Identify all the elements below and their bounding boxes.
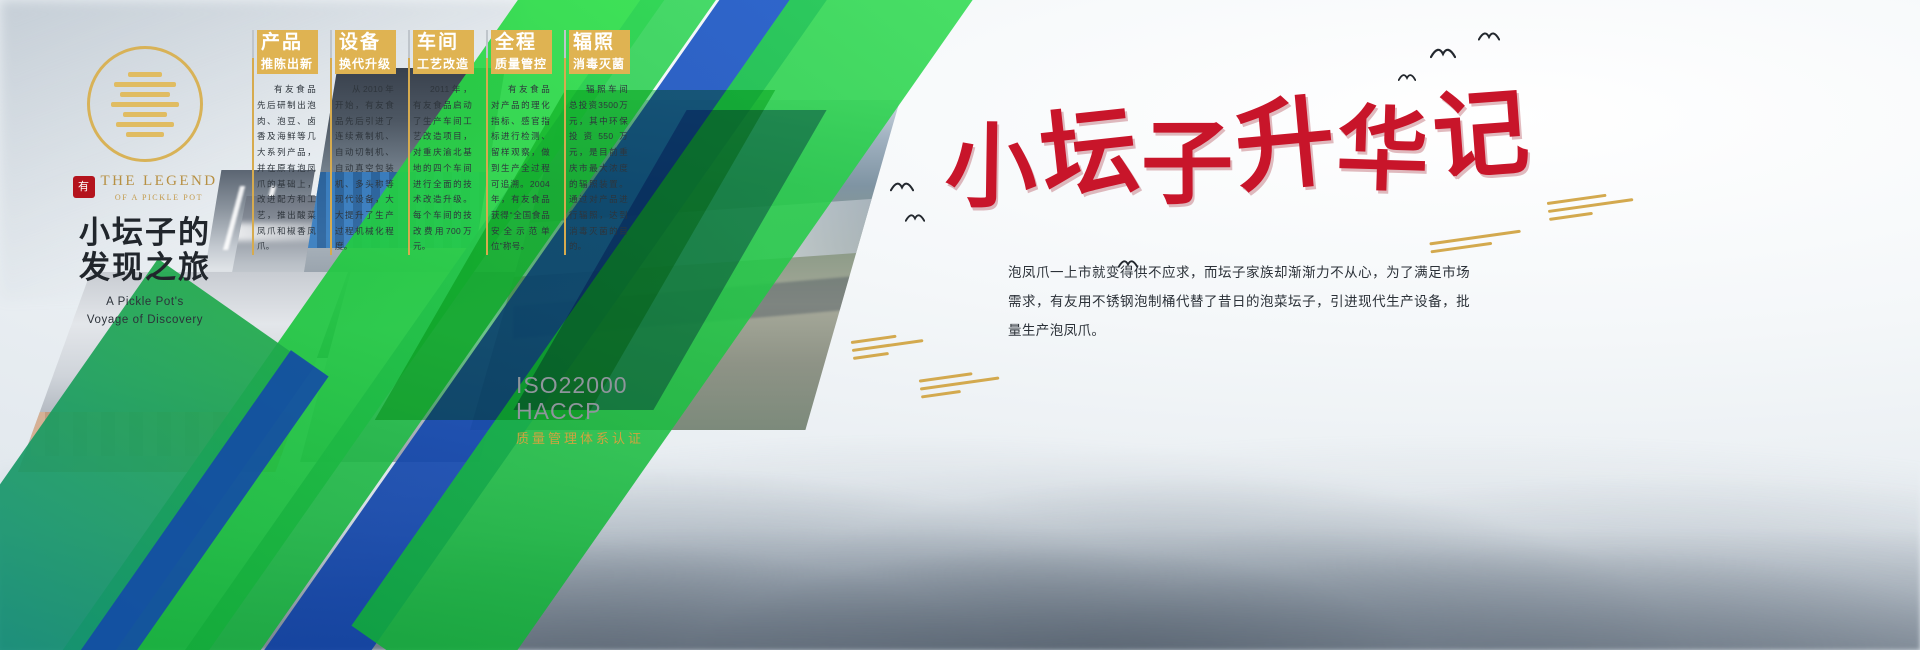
pickle-pot-seal-icon bbox=[87, 46, 203, 162]
card-subheading: 换代升级 bbox=[335, 56, 396, 74]
cloud-ornament-icon bbox=[1429, 230, 1522, 259]
cloud-ornament-icon bbox=[1547, 190, 1636, 226]
legend-sub-text: OF A PICKLE POT bbox=[101, 193, 218, 202]
card-heading: 产品 bbox=[257, 30, 318, 56]
card-subheading: 消毒灭菌 bbox=[569, 56, 630, 74]
card-body: 有友食品先后研制出泡肉、泡豆、卤香及海鲜等几大系列产品，并在原有泡凤爪的基础上，… bbox=[257, 82, 318, 255]
brand-en-title-line1: A Pickle Pot's bbox=[45, 294, 245, 311]
brand-cn-title-line2: 发现之旅 bbox=[45, 251, 245, 286]
brand-logo-block: 有 THE LEGEND OF A PICKLE POT 小坛子的 发现之旅 A… bbox=[45, 46, 245, 329]
banner-stage: 有 THE LEGEND OF A PICKLE POT 小坛子的 发现之旅 A… bbox=[0, 0, 1920, 650]
hero-title-char: 记 bbox=[1427, 54, 1539, 199]
quality-system-label: 质量管理体系认证 bbox=[516, 428, 644, 447]
hero-title-char: 子 bbox=[1141, 89, 1239, 222]
milestone-card: 车间 工艺改造 2011年，有友食品启动了生产车间工艺改造项目，对重庆渝北基地的… bbox=[408, 30, 474, 255]
brand-cn-title: 小坛子的 发现之旅 bbox=[45, 216, 245, 285]
card-body: 从2010年开始，有友食品先后引进了连续煮制机、自动切制机、自动真空包装机、多头… bbox=[335, 82, 396, 255]
card-heading: 全程 bbox=[491, 30, 552, 56]
youyou-seal-icon: 有 bbox=[73, 176, 95, 198]
card-body: 2011年，有友食品启动了生产车间工艺改造项目，对重庆渝北基地的四个车间进行全面… bbox=[413, 82, 474, 255]
legend-lockup: 有 THE LEGEND OF A PICKLE POT bbox=[45, 172, 245, 202]
iso-standard-label: ISO22000 bbox=[516, 372, 644, 398]
card-subheading: 推陈出新 bbox=[257, 56, 318, 74]
hero-paragraph: 泡凤爪一上市就变得供不应求，而坛子家族却渐渐力不从心，为了满足市场需求，有友用不… bbox=[1008, 258, 1470, 345]
card-subheading: 质量管控 bbox=[491, 56, 552, 74]
card-body: 辐照车间总投资3500万元，其中环保投资550万元，是目前重庆市最大浓度的辐照装… bbox=[569, 82, 630, 255]
card-subheading: 工艺改造 bbox=[413, 56, 474, 74]
cloud-ornament-icon bbox=[919, 369, 1002, 404]
card-heading: 车间 bbox=[413, 30, 474, 56]
hero-title-char: 华 bbox=[1335, 74, 1437, 210]
brand-en-title-line2: Voyage of Discovery bbox=[45, 312, 245, 329]
certification-block: ISO22000 HACCP 质量管理体系认证 bbox=[516, 372, 644, 447]
milestone-card: 产品 推陈出新 有友食品先后研制出泡肉、泡豆、卤香及海鲜等几大系列产品，并在原有… bbox=[252, 30, 318, 255]
hero-title-char: 升 bbox=[1228, 60, 1346, 213]
milestone-card: 设备 换代升级 从2010年开始，有友食品先后引进了连续煮制机、自动切制机、自动… bbox=[330, 30, 396, 255]
legend-main-text: THE LEGEND bbox=[101, 173, 218, 189]
card-heading: 辐照 bbox=[569, 30, 630, 56]
haccp-label: HACCP bbox=[516, 398, 644, 424]
bird-icon bbox=[905, 212, 925, 225]
hero-title-char: 坛 bbox=[1033, 71, 1150, 221]
milestone-card: 辐照 消毒灭菌 辐照车间总投资3500万元，其中环保投资550万元，是目前重庆市… bbox=[564, 30, 630, 255]
bird-icon bbox=[1478, 30, 1500, 44]
hero-title-char: 小 bbox=[944, 92, 1044, 226]
hero-title-calligraphy: 小坛子升华记 bbox=[943, 67, 1508, 218]
brand-cn-title-line1: 小坛子的 bbox=[45, 216, 245, 251]
card-heading: 设备 bbox=[335, 30, 396, 56]
brand-en-title: A Pickle Pot's Voyage of Discovery bbox=[45, 294, 245, 329]
milestone-card: 全程 质量管控 有友食品对产品的理化指标、感官指标进行检测、留样观察，做到生产全… bbox=[486, 30, 552, 255]
card-body: 有友食品对产品的理化指标、感官指标进行检测、留样观察，做到生产全过程可追溯。20… bbox=[491, 82, 552, 255]
